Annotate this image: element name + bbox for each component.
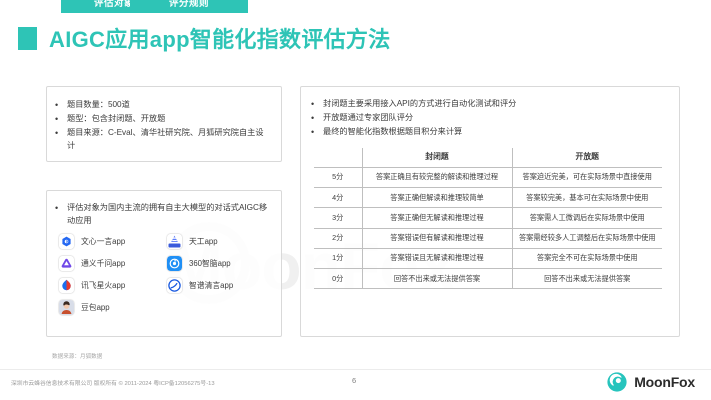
list-item[interactable]: 360智脑app: [167, 256, 271, 271]
cell-open: 答案完全不可在实际场景中使用: [512, 248, 662, 268]
tongyi-icon: [59, 256, 74, 271]
table-row: 4分 答案正确但解读和推理较简单 答案较完美，基本可在实际场景中使用: [314, 188, 662, 208]
list-item-label: 豆包app: [81, 302, 110, 313]
xinghuo-icon: [59, 278, 74, 293]
list-item-label: 智谱清言app: [189, 280, 233, 291]
cell-closed: 回答不出来或无法提供答案: [362, 269, 512, 289]
test-bank-body: 题目数量：500道 题型：包含封闭题、开放题 题目来源：C-Eval、清华社研究…: [47, 87, 281, 152]
brand-name: MoonFox: [634, 374, 695, 390]
cell-score: 4分: [314, 188, 362, 208]
cell-closed: 答案错误且无解读和推理过程: [362, 248, 512, 268]
cell-open: 答案迫近完美，可在实际场景中直接使用: [512, 167, 662, 187]
table-row: 3分 答案正确但无解读和推理过程 答案需人工微调后在实际场景中使用: [314, 208, 662, 228]
eval-targets-bullet-list: 评估对象为国内主流的拥有自主大模型的对话式AIGC移动应用: [53, 202, 271, 227]
slide-canvas: MoonFox AIGC应用app智能化指数评估方法 题目数量：500道 题型：…: [0, 0, 711, 400]
list-item: 开放题通过专家团队评分: [309, 112, 667, 125]
cell-closed: 答案正确但解读和推理较简单: [362, 188, 512, 208]
brand-logo: MoonFox: [606, 371, 695, 393]
list-item-label: 讯飞星火app: [81, 280, 125, 291]
doubao-icon: [59, 300, 74, 315]
table-row: 1分 答案错误且无解读和推理过程 答案完全不可在实际场景中使用: [314, 248, 662, 268]
scoring-table: 封闭题 开放题 5分 答案正确且有较完整的解读和推理过程 答案迫近完美，可在实际…: [314, 148, 662, 289]
cell-open: 回答不出来或无法提供答案: [512, 269, 662, 289]
scoring-rules-tab-label: 评分规则: [130, 0, 248, 13]
scoring-rules-bullet-list: 封闭题主要采用接入API的方式进行自动化测试和评分 开放题通过专家团队评分 最终…: [309, 98, 667, 139]
list-item[interactable]: 智谱清言app: [167, 278, 271, 293]
cell-score: 2分: [314, 228, 362, 248]
test-bank-bullet-list: 题目数量：500道 题型：包含封闭题、开放题 题目来源：C-Eval、清华社研究…: [53, 99, 271, 152]
cell-open: 答案需人工微调后在实际场景中使用: [512, 208, 662, 228]
list-item-label: 文心一言app: [81, 236, 125, 247]
page-number: 6: [352, 376, 356, 385]
copyright-text: 深圳市云蜂谷信息技术有限公司 版权所有 © 2011-2024 粤ICP备120…: [11, 378, 215, 387]
list-item: 题目来源：C-Eval、清华社研究院、月狐研究院自主设计: [53, 127, 271, 152]
page-title: AIGC应用app智能化指数评估方法: [18, 22, 391, 54]
title-text: AIGC应用app智能化指数评估方法: [49, 22, 391, 54]
table-row: 0分 回答不出来或无法提供答案 回答不出来或无法提供答案: [314, 269, 662, 289]
column-header-open: 开放题: [512, 148, 662, 168]
list-item-label: 天工app: [189, 236, 218, 247]
list-item[interactable]: 天工app: [167, 234, 271, 249]
list-item-label: 通义千问app: [81, 258, 125, 269]
eval-targets-body: 评估对象为国内主流的拥有自主大模型的对话式AIGC移动应用 文心一言app 天工…: [47, 191, 281, 315]
cell-score: 0分: [314, 269, 362, 289]
list-item-label: 360智脑app: [189, 258, 231, 269]
cell-closed: 答案错误但有解读和推理过程: [362, 228, 512, 248]
column-header-score: [314, 148, 362, 168]
cell-score: 5分: [314, 167, 362, 187]
list-item[interactable]: 讯飞星火app: [59, 278, 163, 293]
table-header-row: 封闭题 开放题: [314, 148, 662, 168]
footer-divider: [0, 369, 711, 370]
zhinao360-icon: [167, 256, 182, 271]
list-item[interactable]: 豆包app: [59, 300, 163, 315]
cell-open: 答案需经较多人工调整后在实际场景中使用: [512, 228, 662, 248]
cell-score: 1分: [314, 248, 362, 268]
column-header-closed: 封闭题: [362, 148, 512, 168]
zhipu-icon: [167, 278, 182, 293]
eval-targets-card: 评估对象为国内主流的拥有自主大模型的对话式AIGC移动应用 文心一言app 天工…: [46, 190, 282, 337]
source-note: 数据来源：月狐数据: [52, 352, 102, 360]
list-item: 最终的智能化指数根据题目积分来计算: [309, 126, 667, 139]
list-item[interactable]: 文心一言app: [59, 234, 163, 249]
list-item: 封闭题主要采用接入API的方式进行自动化测试和评分: [309, 98, 667, 111]
test-bank-card: 题目数量：500道 题型：包含封闭题、开放题 题目来源：C-Eval、清华社研究…: [46, 86, 282, 162]
app-list: 文心一言app 天工app 通义千问app: [53, 234, 271, 315]
list-item: 评估对象为国内主流的拥有自主大模型的对话式AIGC移动应用: [53, 202, 271, 227]
list-item[interactable]: 通义千问app: [59, 256, 163, 271]
scoring-rules-body: 封闭题主要采用接入API的方式进行自动化测试和评分 开放题通过专家团队评分 最终…: [301, 87, 679, 289]
scoring-rules-card: 封闭题主要采用接入API的方式进行自动化测试和评分 开放题通过专家团队评分 最终…: [300, 86, 680, 337]
cell-closed: 答案正确且有较完整的解读和推理过程: [362, 167, 512, 187]
wenxin-icon: [59, 234, 74, 249]
cell-closed: 答案正确但无解读和推理过程: [362, 208, 512, 228]
list-item: 题目数量：500道: [53, 99, 271, 112]
list-item: 题型：包含封闭题、开放题: [53, 113, 271, 126]
cell-open: 答案较完美，基本可在实际场景中使用: [512, 188, 662, 208]
title-accent-mark: [18, 27, 37, 50]
table-row: 5分 答案正确且有较完整的解读和推理过程 答案迫近完美，可在实际场景中直接使用: [314, 167, 662, 187]
cell-score: 3分: [314, 208, 362, 228]
moonfox-logo-icon: [606, 371, 628, 393]
tiangong-icon: [167, 234, 182, 249]
table-row: 2分 答案错误但有解读和推理过程 答案需经较多人工调整后在实际场景中使用: [314, 228, 662, 248]
